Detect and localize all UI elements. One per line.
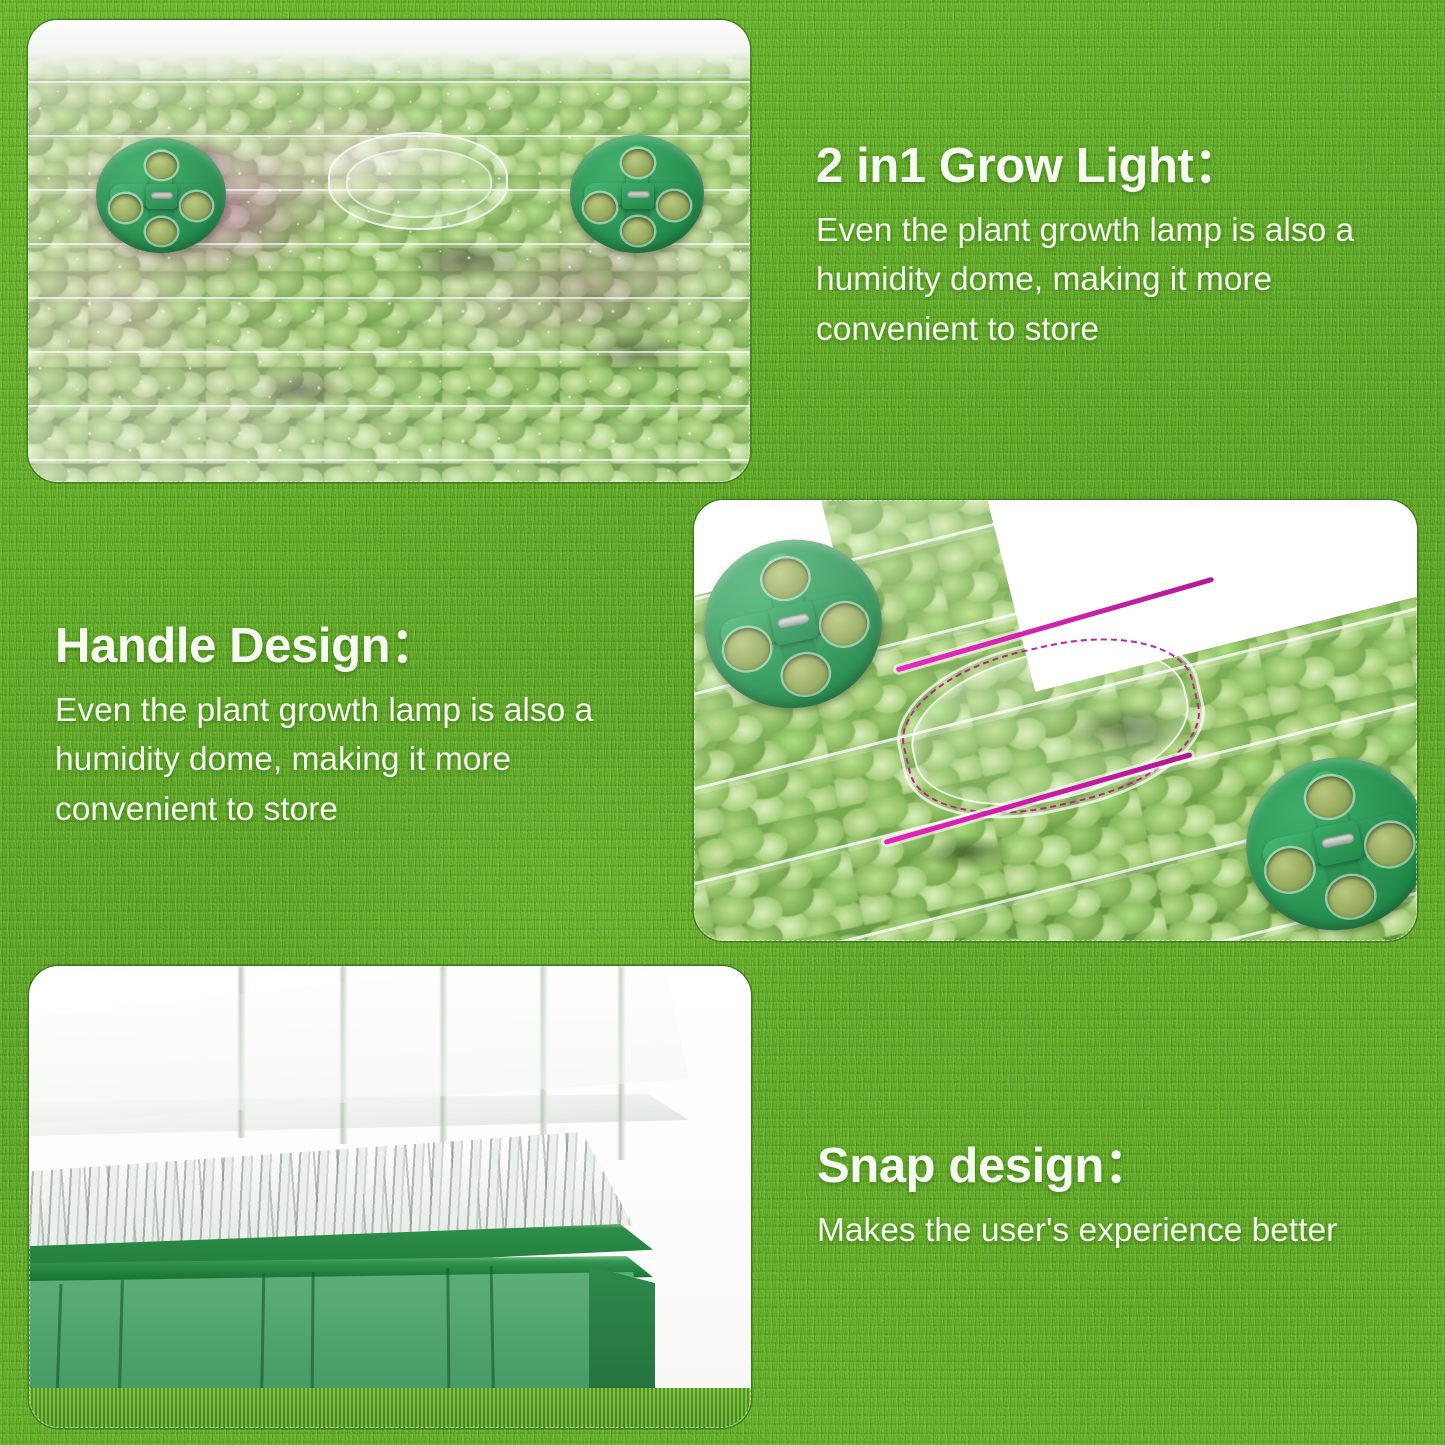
dome-top-edge bbox=[28, 20, 750, 78]
feature-body-grow-light: Even the plant growth lamp is also a hum… bbox=[816, 206, 1396, 355]
grass-strip-in-photo bbox=[29, 1388, 751, 1428]
feature-text-handle: Handle Design： Even the plant growth lam… bbox=[55, 620, 655, 835]
feature-title-snap: Snap design： bbox=[817, 1140, 1417, 1193]
feature-photo-handle bbox=[694, 500, 1417, 941]
dome-gloss bbox=[28, 20, 750, 482]
feature-title-handle: Handle Design： bbox=[55, 620, 655, 673]
tray-right-end-face bbox=[589, 1266, 655, 1408]
feature-photo-snap bbox=[29, 966, 751, 1428]
feature-body-snap: Makes the user's experience better bbox=[817, 1206, 1417, 1256]
dome-gloss bbox=[694, 500, 1417, 941]
feature-body-handle: Even the plant growth lamp is also a hum… bbox=[55, 686, 635, 835]
photo-grow-light bbox=[28, 20, 750, 482]
feature-title-grow-light: 2 in1 Grow Light： bbox=[816, 140, 1406, 193]
photo-snap-design bbox=[29, 966, 751, 1428]
feature-photo-grow-light bbox=[28, 20, 750, 482]
feature-text-snap: Snap design： Makes the user's experience… bbox=[817, 1140, 1417, 1255]
photo-handle bbox=[694, 500, 1417, 941]
feature-text-grow-light: 2 in1 Grow Light： Even the plant growth … bbox=[816, 140, 1406, 355]
